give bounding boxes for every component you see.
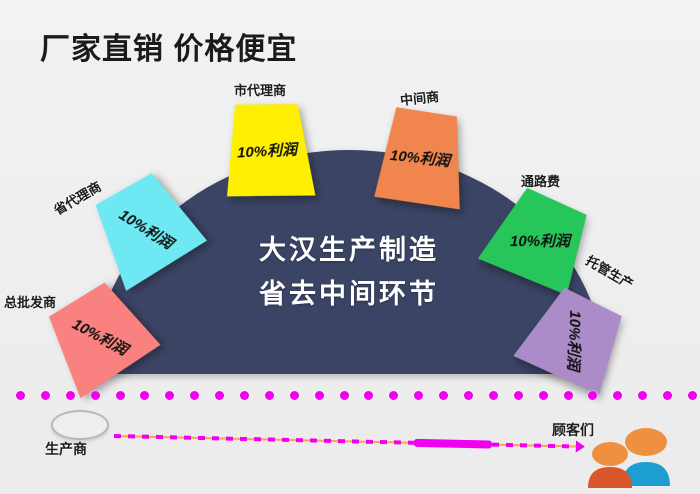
divider-dot	[439, 391, 448, 400]
divider-dot	[514, 391, 523, 400]
label-middleman: 中间商	[399, 86, 440, 109]
producer-label: 生产商	[45, 439, 87, 459]
label-city-agent: 市代理商	[234, 80, 286, 99]
divider-dot	[16, 391, 25, 400]
divider-dot	[66, 391, 75, 400]
direct-flow-arrow	[114, 432, 582, 451]
divider-dot	[414, 391, 423, 400]
divider-dot	[638, 391, 647, 400]
divider-dot	[389, 391, 398, 400]
divider-dot	[688, 391, 697, 400]
divider-dot	[91, 391, 100, 400]
flow-arrow-highlight	[414, 439, 492, 449]
divider-dot	[165, 391, 174, 400]
flow-arrow-dashes	[114, 434, 582, 449]
divider-dot	[265, 391, 274, 400]
label-channel-fee: 通路费	[521, 171, 560, 190]
divider-dot	[215, 391, 224, 400]
profit-card-middleman[interactable]: 10%利润	[370, 106, 469, 210]
divider-dot	[116, 391, 125, 400]
profit-text: 10%利润	[236, 138, 297, 162]
divider-dot	[315, 391, 324, 400]
card-face: 10%利润	[219, 101, 316, 201]
people-group-icon	[580, 428, 684, 490]
card-face: 10%利润	[370, 106, 469, 210]
divider-dot	[190, 391, 199, 400]
divider-dot	[489, 391, 498, 400]
divider-dot	[588, 391, 597, 400]
profit-card-city-agent[interactable]: 10%利润	[219, 101, 316, 201]
divider-dot	[613, 391, 622, 400]
divider-dot	[539, 391, 548, 400]
divider-dot	[464, 391, 473, 400]
label-wholesaler: 总批发商	[4, 292, 56, 311]
profit-text: 10%利润	[69, 313, 132, 360]
profit-text: 10%利润	[563, 310, 586, 371]
profit-text: 10%利润	[389, 144, 451, 171]
divider-dot	[364, 391, 373, 400]
dotted-divider	[16, 391, 688, 401]
profit-text: 10%利润	[115, 203, 177, 253]
page-title: 厂家直销 价格便宜	[40, 24, 297, 68]
producer-node	[51, 410, 109, 440]
divider-dot	[290, 391, 299, 400]
divider-dot	[340, 391, 349, 400]
profit-text: 10%利润	[510, 230, 570, 251]
divider-dot	[663, 391, 672, 400]
divider-dot	[564, 391, 573, 400]
divider-dot	[240, 391, 249, 400]
infographic-canvas: 厂家直销 价格便宜 大汉生产制造 省去中间环节 10%利润 10%利润 10%利…	[0, 0, 700, 494]
divider-dot	[140, 391, 149, 400]
divider-dot	[41, 391, 50, 400]
